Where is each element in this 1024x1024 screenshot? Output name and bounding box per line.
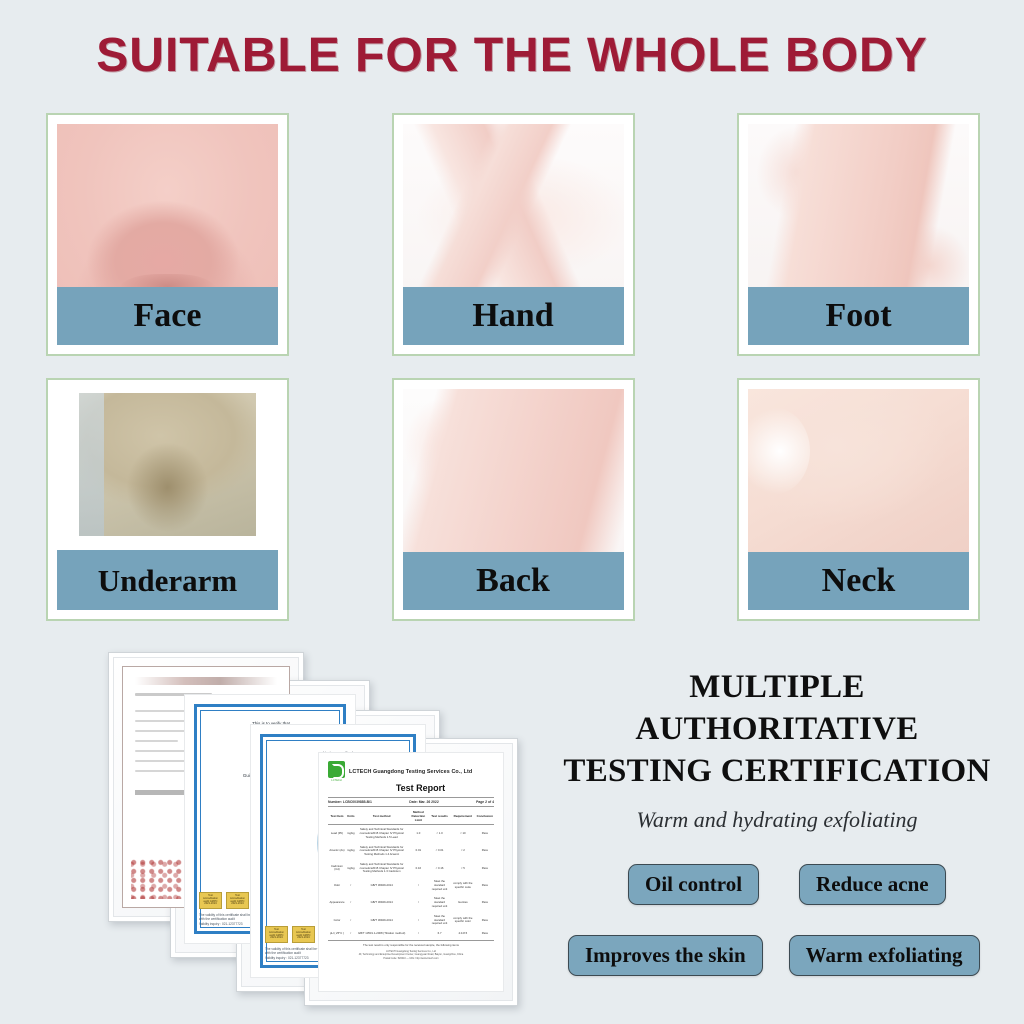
cell: Safety and Technical Standards for cosme… [356,860,408,877]
table-header-row: Test Item Units Test method Method Detec… [328,809,494,825]
cell: Pass [476,825,494,843]
cell: 0.16 [408,860,429,877]
text-line [135,740,178,742]
card-inner: Neck [748,389,969,610]
cell: 6.7 [429,929,450,939]
badge-warm-exfoliating[interactable]: Warm exfoliating [789,935,980,976]
cell: Lead (Pb) [328,825,346,843]
cell: < 0.01 [429,843,450,860]
logo-caption: LCTECH [328,779,345,782]
cell: < 5 [450,860,476,877]
table-row: pH ( 25°C ) / GB/T 13531.1-2008 (Titrati… [328,929,494,939]
cell: Meet the standard required unit [429,877,450,894]
cell: Pass [476,877,494,894]
column-header: Test method [356,809,408,825]
cell: / [408,877,429,894]
cell: pH ( 25°C ) [328,929,346,939]
cell: Pass [476,894,494,911]
card-inner: Foot [748,124,969,345]
underarm-photo [79,393,256,536]
gold-stamp: Test Accreditation audit GMPC 2021-2024 [199,892,222,909]
cell: Odor [328,877,346,894]
table-row: Cadmium (Cd) mg/kg Safety and Technical … [328,860,494,877]
cell: 0.01 [408,843,429,860]
test-report-footer: LCTECH Guangdong Testing Services Co., L… [328,950,494,961]
body-part-label: Foot [825,299,891,333]
cell: comply with the specific code [450,877,476,894]
card-label-bar: Neck [748,552,969,610]
chinese-certificate-header-ornament [135,677,277,685]
body-part-card-face[interactable]: Face [46,113,289,356]
cell: / [408,912,429,929]
cell: GB/T 13531.1-2008 (Titration method) [356,929,408,939]
cell: < 0.16 [429,860,450,877]
table-row: Odor / GB/T 30929-2014 / Meet the standa… [328,877,494,894]
cell: Safety and Technical Standards for cosme… [356,825,408,843]
certification-subtitle: Warm and hydrating exfoliating [540,807,1014,833]
badge-row-2: Improves the skin Warm exfoliating [560,935,1010,976]
body-part-card-back[interactable]: Back [392,378,635,621]
gold-stamp: Test Accreditation audit GMPC 2021-2024 [226,892,249,909]
column-header: Requirement [450,809,476,825]
cell: < 10 [450,825,476,843]
table-row: Lead (Pb) mg/kg Safety and Technical Sta… [328,825,494,843]
body-part-card-underarm[interactable]: Underarm [46,378,289,621]
report-number: Number: LCBC0039885-B/1 [328,800,372,804]
certification-heading-line-1: MULTIPLE [540,666,1014,708]
cell: GB/T 30929-2014 [356,877,408,894]
cell: / [408,894,429,911]
cell: / [346,929,356,939]
cell: mg/kg [346,825,356,843]
body-part-label: Neck [822,564,896,598]
column-header: Test Item [328,809,346,825]
card-label-bar: Back [403,552,624,610]
cell: Cadmium (Cd) [328,860,346,877]
cell: GB/T 30929-2014 [356,894,408,911]
cell: 1.0 [408,825,429,843]
card-inner: Face [57,124,278,345]
underarm-skin-image [79,393,256,536]
body-part-card-foot[interactable]: Foot [737,113,980,356]
gold-stamp: Test Accreditation audit GMPC 2021-2024 [265,926,288,943]
table-row: Color / GB/T 30929-2014 / Meet the stand… [328,912,494,929]
cell: mg/kg [346,843,356,860]
cell: 4.0-8.5 [450,929,476,939]
certification-heading-line-2: AUTHORITATIVE [540,708,1014,750]
body-part-label: Hand [472,299,553,333]
card-inner: Underarm [57,389,278,610]
body-part-label: Face [134,299,202,333]
cell: < 1.0 [429,825,450,843]
cell: Arsenic (As) [328,843,346,860]
cell: mg/kg [346,860,356,877]
test-report-company: LCTECH Guangdong Testing Services Co., L… [349,769,472,775]
text-line [135,770,189,772]
cell: comply with the specific color [450,912,476,929]
body-part-label: Back [476,564,550,598]
cell: / [408,929,429,939]
card-label-bar: Face [57,287,278,345]
cell: Color [328,912,346,929]
page-title: SUITABLE FOR THE WHOLE BODY [0,28,1024,83]
cell: Pass [476,843,494,860]
cell: Meet the standard required unit [429,912,450,929]
body-parts-grid: Face Hand [46,113,980,621]
card-label-bar: Foot [748,287,969,345]
test-report-header: LCTECH LCTECH Guangdong Testing Services… [328,761,494,782]
logo-mark [328,761,345,778]
test-report-meta: Number: LCBC0039885-B/1 Date: Mar. 26 20… [328,797,494,807]
column-header: Method Detection Limit [408,809,429,825]
cell: Safety and Technical Standards for cosme… [356,843,408,860]
badge-oil-control[interactable]: Oil control [628,864,759,905]
card-label-bar: Underarm [57,550,278,610]
cell: Pass [476,912,494,929]
badge-row-1: Oil control Reduce acne [560,864,1010,905]
body-parts-row-1: Face Hand [46,113,980,356]
body-part-label: Underarm [98,565,237,596]
text-line [135,710,189,712]
footer-line: Postal Code: 520010 — URL: http://www.lc… [328,957,494,961]
column-header: Conclusion [476,809,494,825]
test-report-table: Test Item Units Test method Method Detec… [328,809,494,939]
certification-copy: MULTIPLE AUTHORITATIVE TESTING CERTIFICA… [540,666,1014,833]
certificate-frame-test-report[interactable]: LCTECH LCTECH Guangdong Testing Services… [304,738,518,1006]
cell: Meet the standard required unit [429,894,450,911]
report-page: Page 2 of 4 [476,800,494,804]
badge-improves-the-skin[interactable]: Improves the skin [568,935,763,976]
body-part-card-neck[interactable]: Neck [737,378,980,621]
test-report-title: Test Report [347,783,494,793]
gold-stamp: Test Accreditation audit GMPC 2021-2024 [292,926,315,943]
lctech-logo-icon: LCTECH [328,761,345,782]
card-inner: Hand [403,124,624,345]
column-header: Units [346,809,356,825]
cell: / [346,877,356,894]
feature-badges: Oil control Reduce acne Improves the ski… [560,864,1010,976]
certificates-stack: This is to verify that original Guangzho… [108,652,528,1007]
test-report-paper: LCTECH LCTECH Guangdong Testing Services… [318,752,504,992]
certification-heading-line-3: TESTING CERTIFICATION [540,750,1014,792]
test-report-note: The test result is only responsible for … [328,940,494,947]
accreditation-stamps: Test Accreditation audit GMPC 2021-2024 … [199,892,249,909]
cell: < 2 [450,843,476,860]
cell: / [346,912,356,929]
cell: Pass [476,860,494,877]
badge-reduce-acne[interactable]: Reduce acne [799,864,946,905]
table-row: Appearance / GB/T 30929-2014 / Meet the … [328,894,494,911]
red-seal-ornament [131,857,183,899]
infographic-page: SUITABLE FOR THE WHOLE BODY Face [0,0,1024,1024]
body-part-card-hand[interactable]: Hand [392,113,635,356]
cell: / [346,894,356,911]
cell: Pass [476,929,494,939]
table-row: Arsenic (As) mg/kg Safety and Technical … [328,843,494,860]
cell: GB/T 30929-2014 [356,912,408,929]
cell: Appearance [328,894,346,911]
column-header: Test results [429,809,450,825]
body-parts-row-2: Underarm Back [46,378,980,621]
card-label-bar: Hand [403,287,624,345]
cell: Genties [450,894,476,911]
card-inner: Back [403,389,624,610]
report-date: Date: Mar. 26 2022 [409,800,438,804]
accreditation-stamps: Test Accreditation audit GMPC 2021-2024 … [265,926,315,943]
